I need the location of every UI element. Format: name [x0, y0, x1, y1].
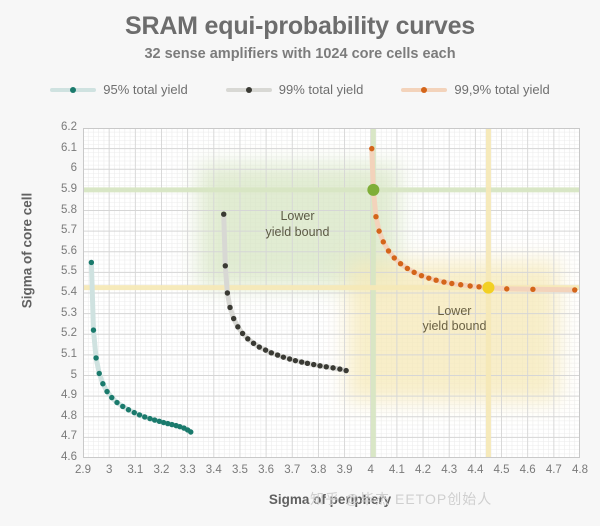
legend-dot-999	[421, 87, 427, 93]
highlight-yellow	[482, 282, 494, 294]
y-tick-5.2: 5.2	[37, 327, 77, 339]
legend-item-999[interactable]: 99,9% total yield	[401, 82, 549, 97]
y-tick-5.8: 5.8	[37, 204, 77, 216]
legend-swatch-999	[401, 88, 447, 92]
legend-label-999: 99,9% total yield	[454, 82, 549, 97]
y-tick-5.9: 5.9	[37, 183, 77, 195]
chart-subtitle: 32 sense amplifiers with 1024 core cells…	[0, 46, 600, 62]
x-tick-4.8: 4.8	[560, 464, 600, 476]
y-tick-5.4: 5.4	[37, 286, 77, 298]
y-axis-label: Sigma of core cell	[20, 161, 35, 341]
shaded-regions	[198, 164, 559, 402]
y-tick-5.1: 5.1	[37, 348, 77, 360]
y-tick-5.6: 5.6	[37, 245, 77, 257]
page-title: SRAM equi-probability curves	[0, 12, 600, 41]
y-tick-6.2: 6.2	[37, 121, 77, 133]
y-tick-4.9: 4.9	[37, 389, 77, 401]
y-tick-5: 5	[37, 369, 77, 381]
legend-swatch-99	[226, 88, 272, 92]
y-tick-4.7: 4.7	[37, 430, 77, 442]
plot-svg	[83, 128, 580, 458]
legend-item-99[interactable]: 99% total yield	[226, 82, 364, 97]
legend-swatch-95	[50, 88, 96, 92]
y-tick-4.8: 4.8	[37, 410, 77, 422]
chart-root: SRAM equi-probability curves 32 sense am…	[0, 0, 600, 526]
chart-legend: 95% total yield 99% total yield 99,9% to…	[0, 82, 600, 97]
legend-label-99: 99% total yield	[279, 82, 364, 97]
legend-label-95: 95% total yield	[103, 82, 188, 97]
y-tick-6: 6	[37, 162, 77, 174]
highlight-green	[367, 184, 379, 196]
y-tick-6.1: 6.1	[37, 142, 77, 154]
y-tick-5.3: 5.3	[37, 307, 77, 319]
y-tick-5.5: 5.5	[37, 265, 77, 277]
plot-area	[83, 128, 580, 458]
legend-dot-95	[70, 87, 76, 93]
legend-item-95[interactable]: 95% total yield	[50, 82, 188, 97]
watermark: 知乎 @毕杰 EETOP创始人	[310, 489, 492, 509]
legend-dot-99	[246, 87, 252, 93]
y-tick-4.6: 4.6	[37, 451, 77, 463]
y-tick-5.7: 5.7	[37, 224, 77, 236]
